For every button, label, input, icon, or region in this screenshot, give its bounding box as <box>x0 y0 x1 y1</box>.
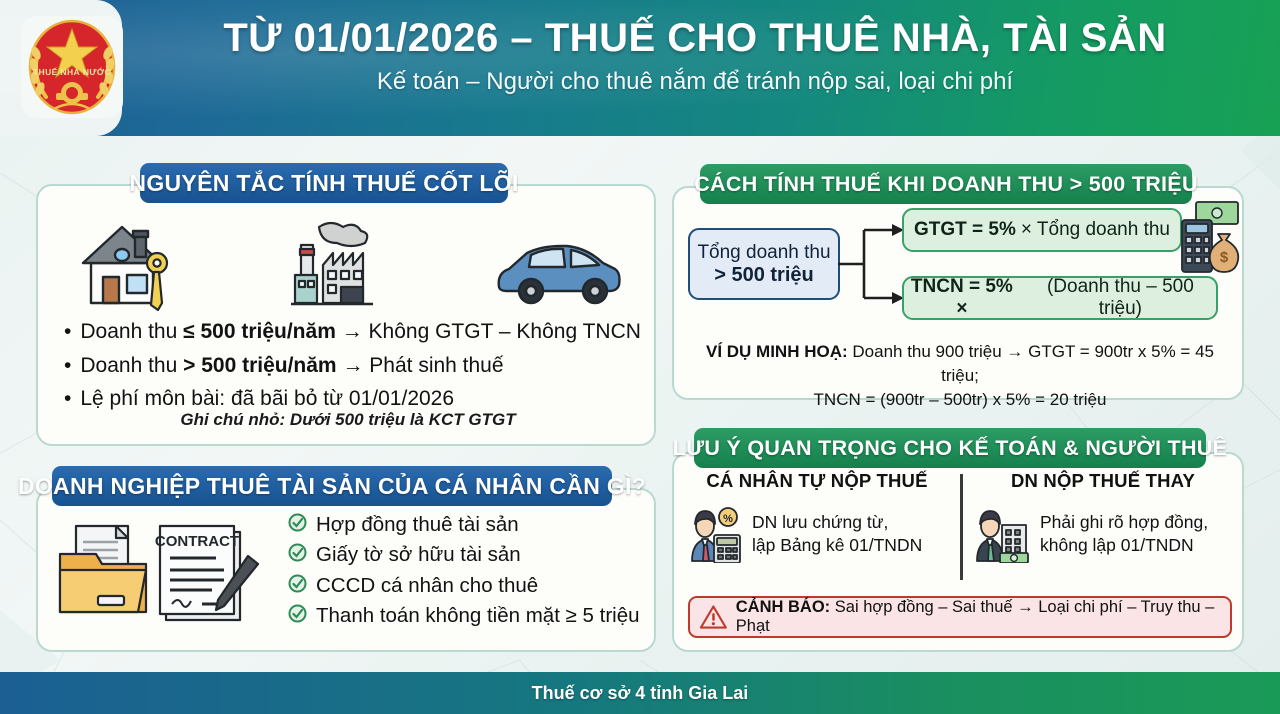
money-bag-icon: $ <box>1210 234 1239 272</box>
panel-title-principles: NGUYÊN TẮC TÍNH THUẾ CỐT LÕI <box>140 163 508 203</box>
tncn-rest: (Doanh thu – 500 triệu) <box>1025 276 1216 320</box>
warning-triangle-icon <box>700 604 727 630</box>
header-text-block: TỪ 01/01/2026 – THUẾ CHO THUÊ NHÀ, TÀI S… <box>140 16 1250 96</box>
check-circle-icon <box>288 604 307 623</box>
notes-column-enterprise: DN NỘP THUẾ THAY <box>960 470 1246 590</box>
panel-business: CONTRACT Hợp đồng <box>36 488 656 652</box>
column-line1: DN lưu chứng từ, <box>752 511 922 534</box>
list-item: Giấy tờ sở hữu tài sản <box>288 540 648 570</box>
page-title: TỪ 01/01/2026 – THUẾ CHO THUÊ NHÀ, TÀI S… <box>140 16 1250 61</box>
gtgt-label: GTGT = 5% <box>914 219 1016 241</box>
svg-text:$: $ <box>1220 249 1229 266</box>
list-item: CCCD cá nhân cho thuê <box>288 571 648 601</box>
checklist-label: Hợp đồng thuê tài sản <box>316 510 519 540</box>
notes-columns: CÁ NHÂN TỰ NỘP THUẾ <box>674 470 1246 590</box>
warning-label: CẢNH BÁO: <box>736 598 830 616</box>
column-heading: DN NỘP THUẾ THAY <box>960 470 1246 492</box>
flow-source-line1: Tổng doanh thu <box>697 242 830 264</box>
tax-flow-diagram: Tổng doanh thu > 500 triệu GTGT = 5% × T… <box>674 188 1246 338</box>
list-item: Doanh thu ≤ 500 triệu/năm → Không GTGT –… <box>64 316 644 348</box>
calculator-icon <box>1182 220 1212 272</box>
svg-text:%: % <box>723 513 733 525</box>
flow-branch-gtgt: GTGT = 5% × Tổng doanh thu <box>902 208 1182 252</box>
person-building-money-icon <box>974 505 1032 563</box>
contract-pen-icon: CONTRACT <box>155 526 258 620</box>
page-subtitle: Kế toán – Người cho thuê nắm để tránh nộ… <box>140 68 1250 96</box>
factory-icon <box>289 215 399 315</box>
list-item: Doanh thu > 500 triệu/năm → Phát sinh th… <box>64 350 644 382</box>
gtgt-rest: × Tổng doanh thu <box>1021 219 1170 241</box>
calculation-example: VÍ DỤ MINH HOẠ: Doanh thu 900 triệu → GT… <box>690 340 1230 411</box>
emblem-label: THUẾ NHÀ NƯỚC <box>33 66 111 77</box>
checklist-label: Thanh toán không tiền mặt ≥ 5 triệu <box>316 601 640 631</box>
car-icon <box>491 215 627 315</box>
panel-notes: CÁ NHÂN TỰ NỘP THUẾ <box>672 452 1244 652</box>
checklist-label: CCCD cá nhân cho thuê <box>316 571 538 601</box>
example-line2: TNCN = (900tr – 500tr) x 5% = 20 triệu <box>690 388 1230 412</box>
panel-title-business: DOANH NGHIỆP THUÊ TÀI SẢN CỦA CÁ NHÂN CẦ… <box>52 466 612 506</box>
check-circle-icon <box>288 574 307 593</box>
column-line2: không lập 01/TNDN <box>1040 534 1208 557</box>
house-key-icon <box>69 215 197 315</box>
flow-source-box: Tổng doanh thu > 500 triệu <box>688 228 840 300</box>
flow-source-line2: > 500 triệu <box>714 264 814 287</box>
list-item: Thanh toán không tiền mặt ≥ 5 triệu <box>288 601 648 631</box>
check-circle-icon <box>288 513 307 532</box>
notes-column-individual: CÁ NHÂN TỰ NỘP THUẾ <box>674 470 960 590</box>
panel-calculation: Tổng doanh thu > 500 triệu GTGT = 5% × T… <box>672 186 1244 400</box>
principles-note: Ghi chú nhỏ: Dưới 500 triệu là KCT GTGT <box>38 410 658 430</box>
money-icons-group: $ <box>1180 200 1242 278</box>
person-percent-calculator-icon: % <box>688 505 744 563</box>
example-line1: Doanh thu 900 triệu → GTGT = 900tr x 5% … <box>848 342 1214 385</box>
page-header: TỪ 01/01/2026 – THUẾ CHO THUÊ NHÀ, TÀI S… <box>0 0 1280 136</box>
list-item: Hợp đồng thuê tài sản <box>288 510 648 540</box>
tncn-label: TNCN = 5% × <box>904 276 1020 320</box>
page-footer: Thuế cơ sở 4 tỉnh Gia Lai <box>0 672 1280 714</box>
asset-icons-row <box>38 210 658 315</box>
check-circle-icon <box>288 543 307 562</box>
panel-title-notes: LƯU Ý QUAN TRỌNG CHO KẾ TOÁN & NGƯỜI THU… <box>694 428 1206 468</box>
example-label: VÍ DỤ MINH HOẠ: <box>706 342 848 361</box>
warning-banner: CẢNH BÁO: Sai hợp đồng – Sai thuế → Loại… <box>688 596 1232 638</box>
footer-text: Thuế cơ sở 4 tỉnh Gia Lai <box>532 683 749 704</box>
column-line1: Phải ghi rõ hợp đồng, <box>1040 511 1208 534</box>
panel-title-calculation: CÁCH TÍNH THUẾ KHI DOANH THU > 500 TRIỆU <box>700 164 1192 204</box>
column-heading: CÁ NHÂN TỰ NỘP THUẾ <box>674 470 960 492</box>
vietnam-tax-emblem-icon: THUẾ NHÀ NƯỚC <box>18 13 126 121</box>
folder-document-icon <box>60 526 146 612</box>
document-icons-group: CONTRACT <box>52 512 282 632</box>
principles-bullets: Doanh thu ≤ 500 triệu/năm → Không GTGT –… <box>64 316 644 417</box>
svg-text:CONTRACT: CONTRACT <box>155 533 239 550</box>
checklist-label: Giấy tờ sở hữu tài sản <box>316 540 521 570</box>
flow-connector-arrows <box>838 208 908 320</box>
column-line2: lập Bảng kê 01/TNDN <box>752 534 922 557</box>
business-checklist: Hợp đồng thuê tài sản Giấy tờ sở hữu tài… <box>288 510 648 631</box>
panel-principles: Doanh thu ≤ 500 triệu/năm → Không GTGT –… <box>36 184 656 446</box>
infographic-page: TỪ 01/01/2026 – THUẾ CHO THUÊ NHÀ, TÀI S… <box>0 0 1280 714</box>
flow-branch-tncn: TNCN = 5% × (Doanh thu – 500 triệu) <box>902 276 1218 320</box>
